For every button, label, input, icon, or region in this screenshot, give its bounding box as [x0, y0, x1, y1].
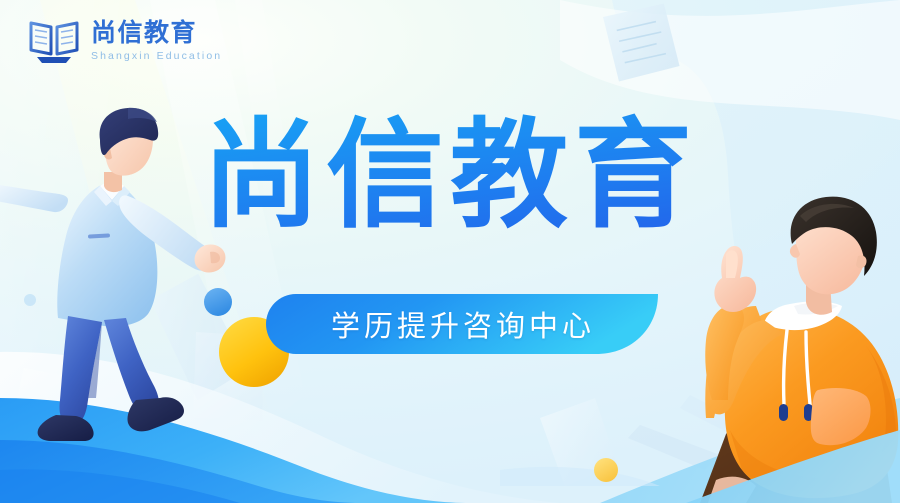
logo-chinese-name: 尚信教育 — [91, 20, 222, 45]
open-book-icon — [28, 16, 80, 64]
decorative-circles — [0, 0, 900, 503]
logo-english-name: Shangxin Education — [91, 51, 222, 62]
subtitle-banner: 学历提升咨询中心 — [266, 294, 666, 354]
promo-banner: 尚信教育 Shangxin Education 尚信教育 学历提升咨询中心 — [0, 0, 900, 503]
subtitle-text: 学历提升咨询中心 — [266, 294, 666, 354]
brand-logo[interactable]: 尚信教育 Shangxin Education — [28, 16, 222, 64]
